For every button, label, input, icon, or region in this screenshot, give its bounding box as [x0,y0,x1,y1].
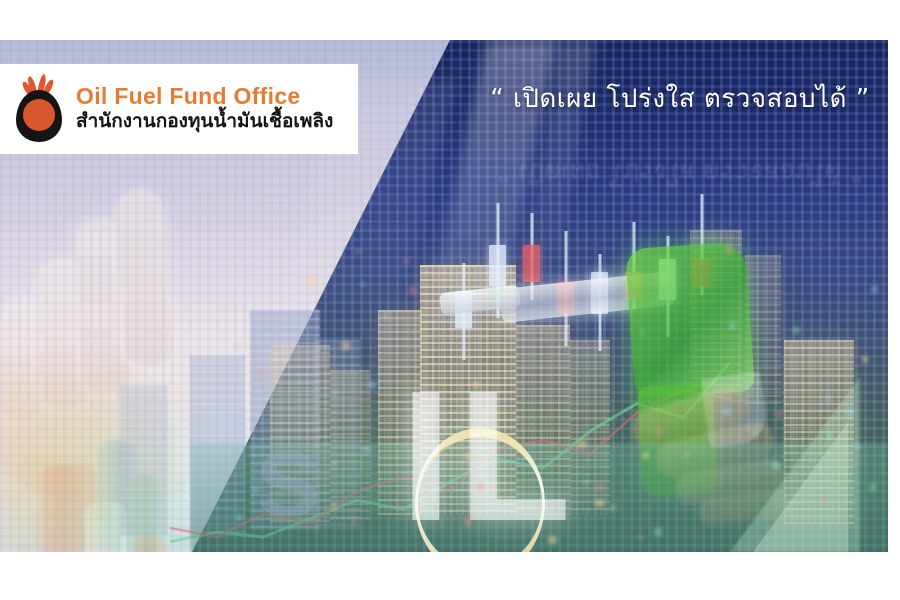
city-light-bokeh [548,536,556,544]
city-light-bokeh [403,258,409,264]
city-light-bokeh [847,409,853,415]
city-light-bokeh [655,428,662,435]
city-light-bokeh [729,323,735,329]
city-light-bokeh [640,331,644,335]
page-root: s IL “ เปิดเผย โปร่งใส ตรวจสอบได้ ” “ เป… [0,0,900,600]
city-light-bokeh [418,481,423,486]
banner-slogan: “ เปิดเผย โปร่งใส ตรวจสอบได้ ” [470,78,890,119]
city-light-bokeh [595,483,604,492]
bottom-white-margin [0,552,900,600]
oil-drop-inner-circle [23,99,55,131]
city-light-bokeh [643,452,650,459]
city-light-bokeh [252,487,258,493]
city-light-bokeh [496,499,501,504]
city-light-bokeh [638,535,643,540]
city-light-bokeh [776,411,782,417]
green-glass-triangle-inner [753,422,848,552]
city-light-bokeh [464,517,472,525]
city-light-bokeh [493,291,500,298]
city-light-bokeh [383,313,388,318]
city-light-bokeh [342,341,350,349]
logo-text-block: Oil Fuel Fund Office สำนักงานกองทุนน้ำมั… [76,84,333,134]
city-light-bokeh [368,381,376,389]
logo-plate[interactable]: Oil Fuel Fund Office สำนักงานกองทุนน้ำมั… [0,64,358,154]
city-light-bokeh [825,395,831,401]
city-light-bokeh [427,310,429,312]
city-light-bokeh [862,356,868,362]
city-light-bokeh [772,462,779,469]
city-light-bokeh [722,407,730,415]
city-light-bokeh [395,504,400,509]
city-light-bokeh [455,426,461,432]
ghost-letter: s [255,406,322,544]
city-light-bokeh [363,446,371,454]
city-light-bokeh [869,484,875,490]
top-white-margin [0,0,900,40]
city-light-bokeh [425,509,433,517]
city-light-bokeh [725,246,733,254]
oil-drop-flame-icon [12,74,66,144]
city-light-bokeh [578,440,586,448]
city-light-bokeh [501,322,504,325]
city-light-bokeh [685,452,689,456]
city-light-bokeh [584,480,589,485]
organization-name-th: สำนักงานกองทุนน้ำมันเชื้อเพลิง [76,110,333,134]
city-light-bokeh [871,286,878,293]
city-light-bokeh [854,443,861,450]
right-white-margin [888,0,900,600]
city-light-bokeh [332,390,337,395]
city-light-bokeh [515,418,518,421]
city-light-bokeh [409,286,417,294]
city-light-bokeh [581,314,583,316]
organization-name-en: Oil Fuel Fund Office [76,84,333,109]
city-light-bokeh [257,371,262,376]
city-light-bokeh [356,250,359,253]
